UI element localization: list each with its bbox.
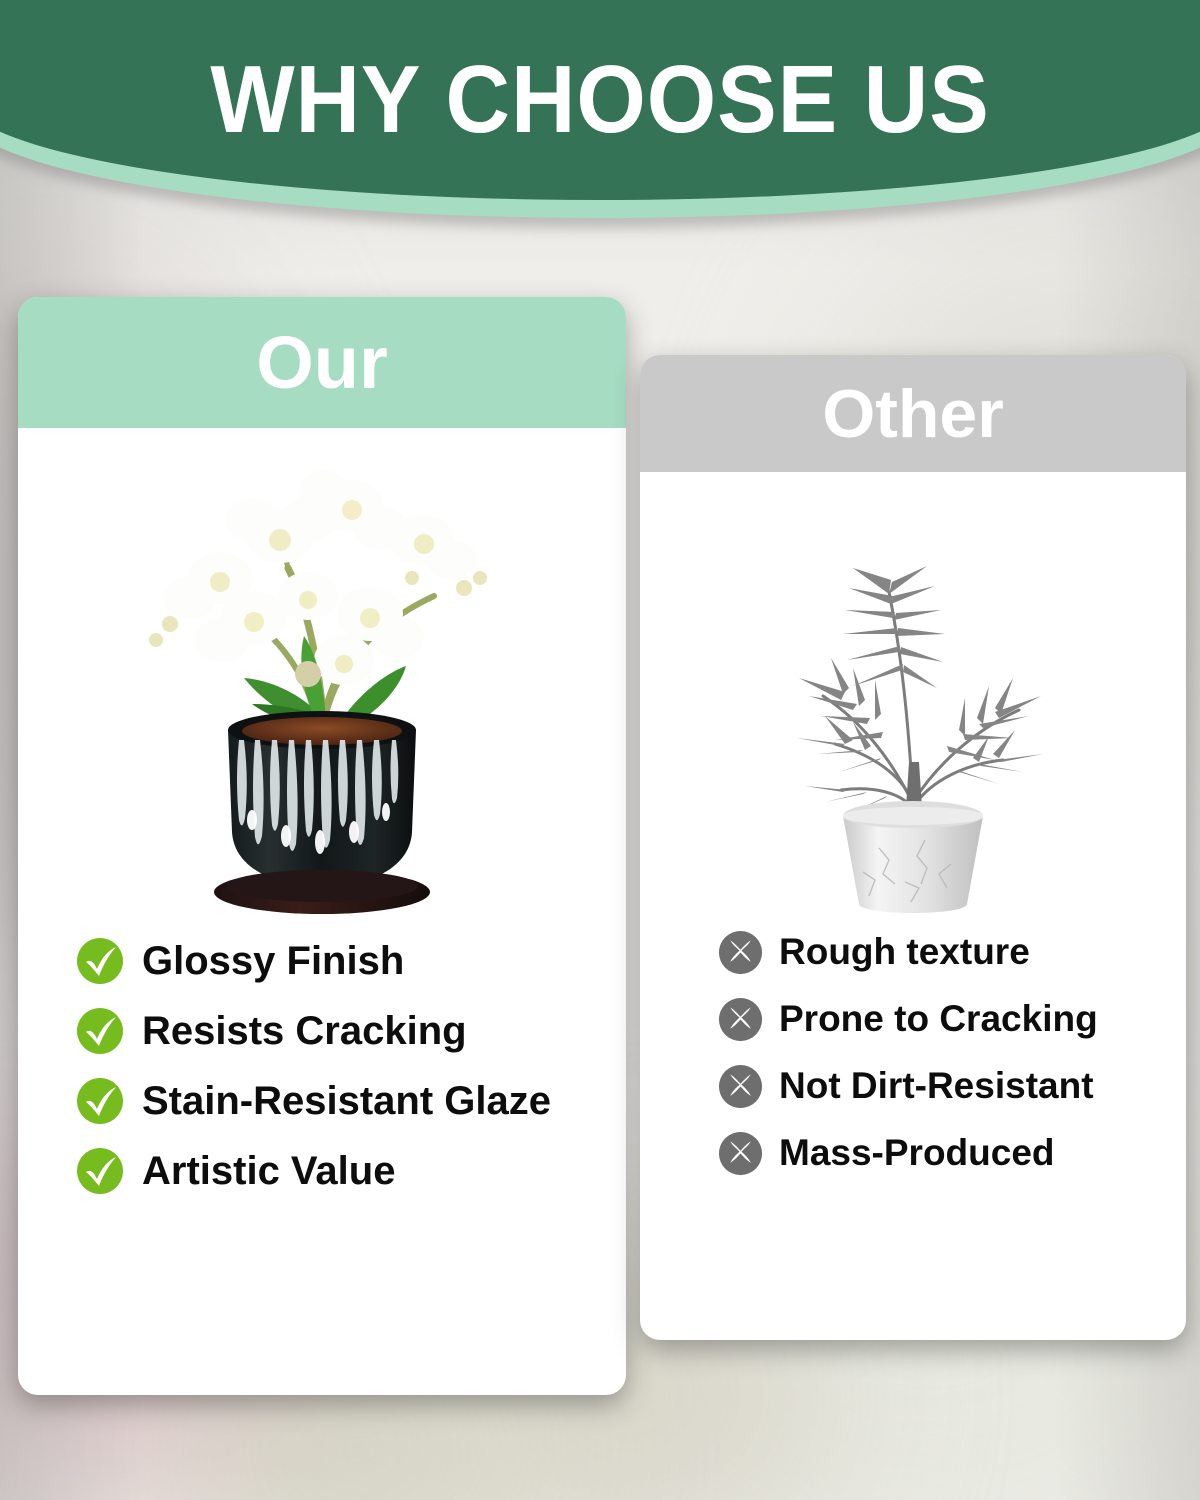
feature-item: Rough texture (718, 930, 1186, 975)
feature-item: Artistic Value (76, 1147, 626, 1195)
feature-item: Stain-Resistant Glaze (76, 1077, 626, 1125)
orchid-in-dark-pot-illustration (112, 428, 532, 925)
feature-item: Resists Cracking (76, 1007, 626, 1055)
page-title: WHY CHOOSE US (42, 52, 1158, 148)
feature-label: Not Dirt-Resistant (779, 1067, 1094, 1106)
check-circle-icon (76, 1007, 124, 1055)
comparison-card-our: Our (18, 297, 626, 1395)
grayscale-palm-in-white-pot-illustration (713, 472, 1113, 922)
feature-label: Rough texture (779, 933, 1030, 972)
orchid-bloom (314, 635, 374, 685)
check-circle-icon (76, 1077, 124, 1125)
x-circle-icon (718, 1064, 763, 1109)
feature-item: Not Dirt-Resistant (718, 1064, 1186, 1109)
orchid-bloom (278, 572, 338, 620)
feature-item: Prone to Cracking (718, 997, 1186, 1042)
palm-frond-leaflets (797, 566, 1043, 814)
x-circle-icon (718, 1131, 763, 1176)
card-heading-our: Our (18, 297, 626, 428)
feature-label: Stain-Resistant Glaze (142, 1080, 551, 1122)
orchid-bloom (390, 515, 477, 580)
feature-label: Resists Cracking (142, 1010, 467, 1052)
product-image-other (640, 472, 1186, 922)
card-heading-other: Other (640, 355, 1186, 472)
feature-list-other: Rough texture Prone to Cracking Not Dirt… (718, 930, 1186, 1176)
x-circle-icon (718, 997, 763, 1042)
feature-label: Artistic Value (142, 1150, 395, 1192)
product-image-our (18, 428, 626, 925)
check-circle-icon (76, 1147, 124, 1195)
infographic-canvas: WHY CHOOSE US Our (0, 0, 1200, 1500)
moss-ball (295, 661, 321, 687)
feature-label: Glossy Finish (142, 940, 404, 982)
comparison-card-other: Other (640, 355, 1186, 1340)
feature-item: Glossy Finish (76, 937, 626, 985)
feature-label: Mass-Produced (779, 1134, 1055, 1173)
feature-item: Mass-Produced (718, 1131, 1186, 1176)
x-circle-icon (718, 930, 763, 975)
feature-label: Prone to Cracking (779, 1000, 1098, 1039)
feature-list-our: Glossy Finish Resists Cracking Stain-Res… (76, 937, 626, 1195)
check-circle-icon (76, 937, 124, 985)
